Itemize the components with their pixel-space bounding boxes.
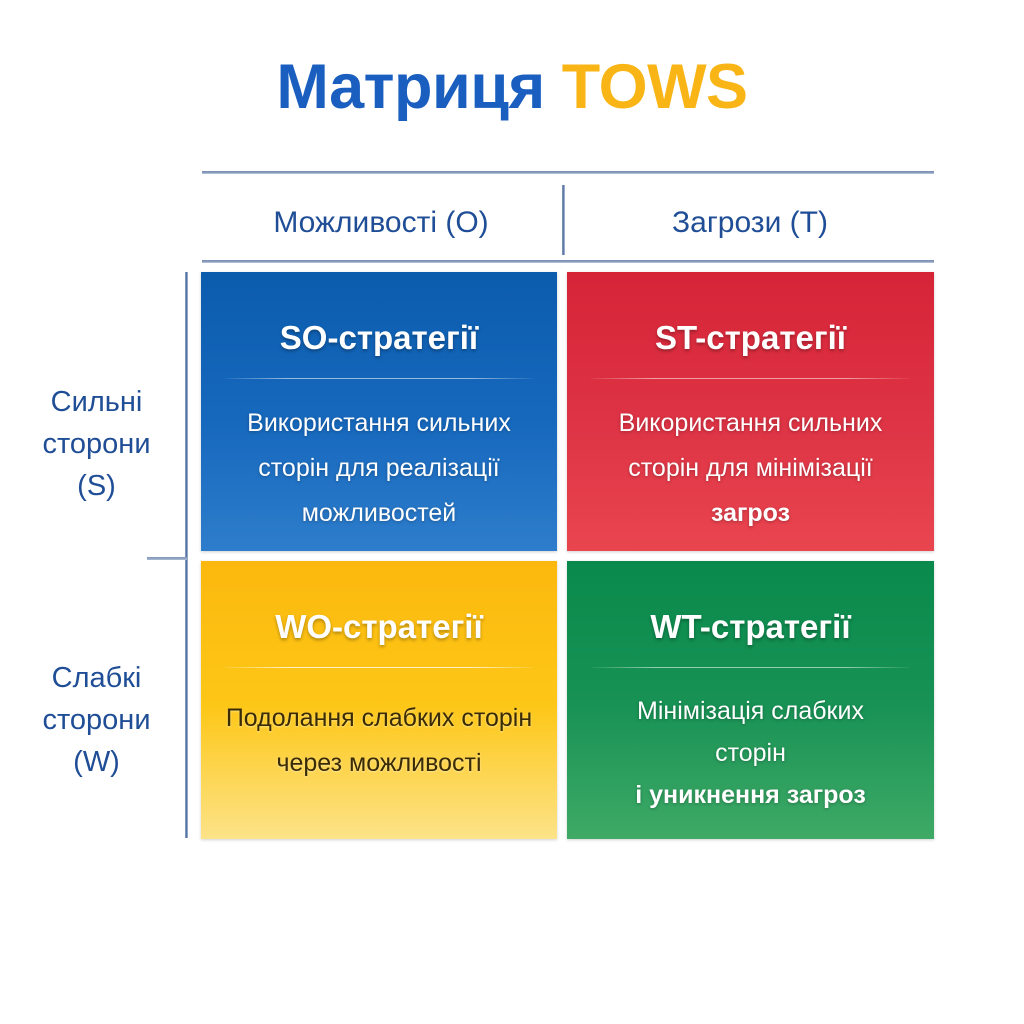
column-header-divider (562, 185, 565, 255)
quadrant-st[interactable]: ST-стратегії Використання сильних сторін… (567, 272, 934, 551)
quadrant-st-title: ST-стратегії (581, 272, 920, 357)
quadrant-wt-body-line-3: і уникнення загроз (589, 774, 912, 816)
row-label-strengths: Сильні сторони (S) (14, 381, 179, 507)
row-label-strengths-line-1: Сильні (14, 381, 179, 423)
quadrant-wo-body-line-1: Подолання слабких сторін (223, 696, 535, 741)
row-label-strengths-line-2: сторони (14, 423, 179, 465)
row-axis-line (185, 272, 188, 838)
quadrant-st-body-line-3: загроз (589, 491, 912, 536)
header-rule-bottom (202, 260, 934, 263)
quadrant-wo[interactable]: WO-стратегії Подолання слабких сторін че… (201, 561, 557, 839)
row-axis-tick (147, 557, 187, 560)
quadrant-so-body-line-3: можливостей (223, 491, 535, 536)
quadrant-wt-body: Мінімізація слабких сторін і уникнення з… (581, 668, 920, 816)
header-rule-top (202, 171, 934, 174)
tows-matrix-grid: SO-стратегії Використання сильних сторін… (201, 272, 934, 839)
quadrant-wt-body-line-1: Мінімізація слабких (589, 690, 912, 732)
quadrant-so-body-line-1: Використання сильних (223, 401, 535, 446)
quadrant-wo-title: WO-стратегії (215, 561, 543, 646)
quadrant-so[interactable]: SO-стратегії Використання сильних сторін… (201, 272, 557, 551)
page-title-accent: TOWS (562, 52, 748, 122)
quadrant-st-body-line-2: сторін для мінімізації (589, 446, 912, 491)
quadrant-wo-body-line-2: через можливості (223, 741, 535, 786)
quadrant-st-body: Використання сильних сторін для мініміза… (581, 379, 920, 536)
quadrant-so-title: SO-стратегії (215, 272, 543, 357)
quadrant-st-body-line-1: Використання сильних (589, 401, 912, 446)
quadrant-so-body: Використання сильних сторін для реалізац… (215, 379, 543, 536)
row-label-weaknesses-line-2: сторони (14, 699, 179, 741)
quadrant-so-body-line-2: сторін для реалізації (223, 446, 535, 491)
row-label-weaknesses: Слабкі сторони (W) (14, 657, 179, 783)
row-label-weaknesses-line-1: Слабкі (14, 657, 179, 699)
quadrant-wt-body-line-2: сторін (589, 732, 912, 774)
quadrant-wo-body: Подолання слабких сторін через можливост… (215, 668, 543, 786)
page-title-main: Матриця (276, 52, 544, 122)
page-title: Матриця TOWS (0, 54, 1024, 120)
quadrant-wt[interactable]: WT-стратегії Мінімізація слабких сторін … (567, 561, 934, 839)
column-header-opportunities: Можливості (O) (202, 200, 560, 246)
quadrant-wt-title: WT-стратегії (581, 561, 920, 646)
row-label-strengths-line-3: (S) (14, 465, 179, 507)
column-header-threats: Загрози (T) (566, 200, 934, 246)
row-label-weaknesses-line-3: (W) (14, 741, 179, 783)
